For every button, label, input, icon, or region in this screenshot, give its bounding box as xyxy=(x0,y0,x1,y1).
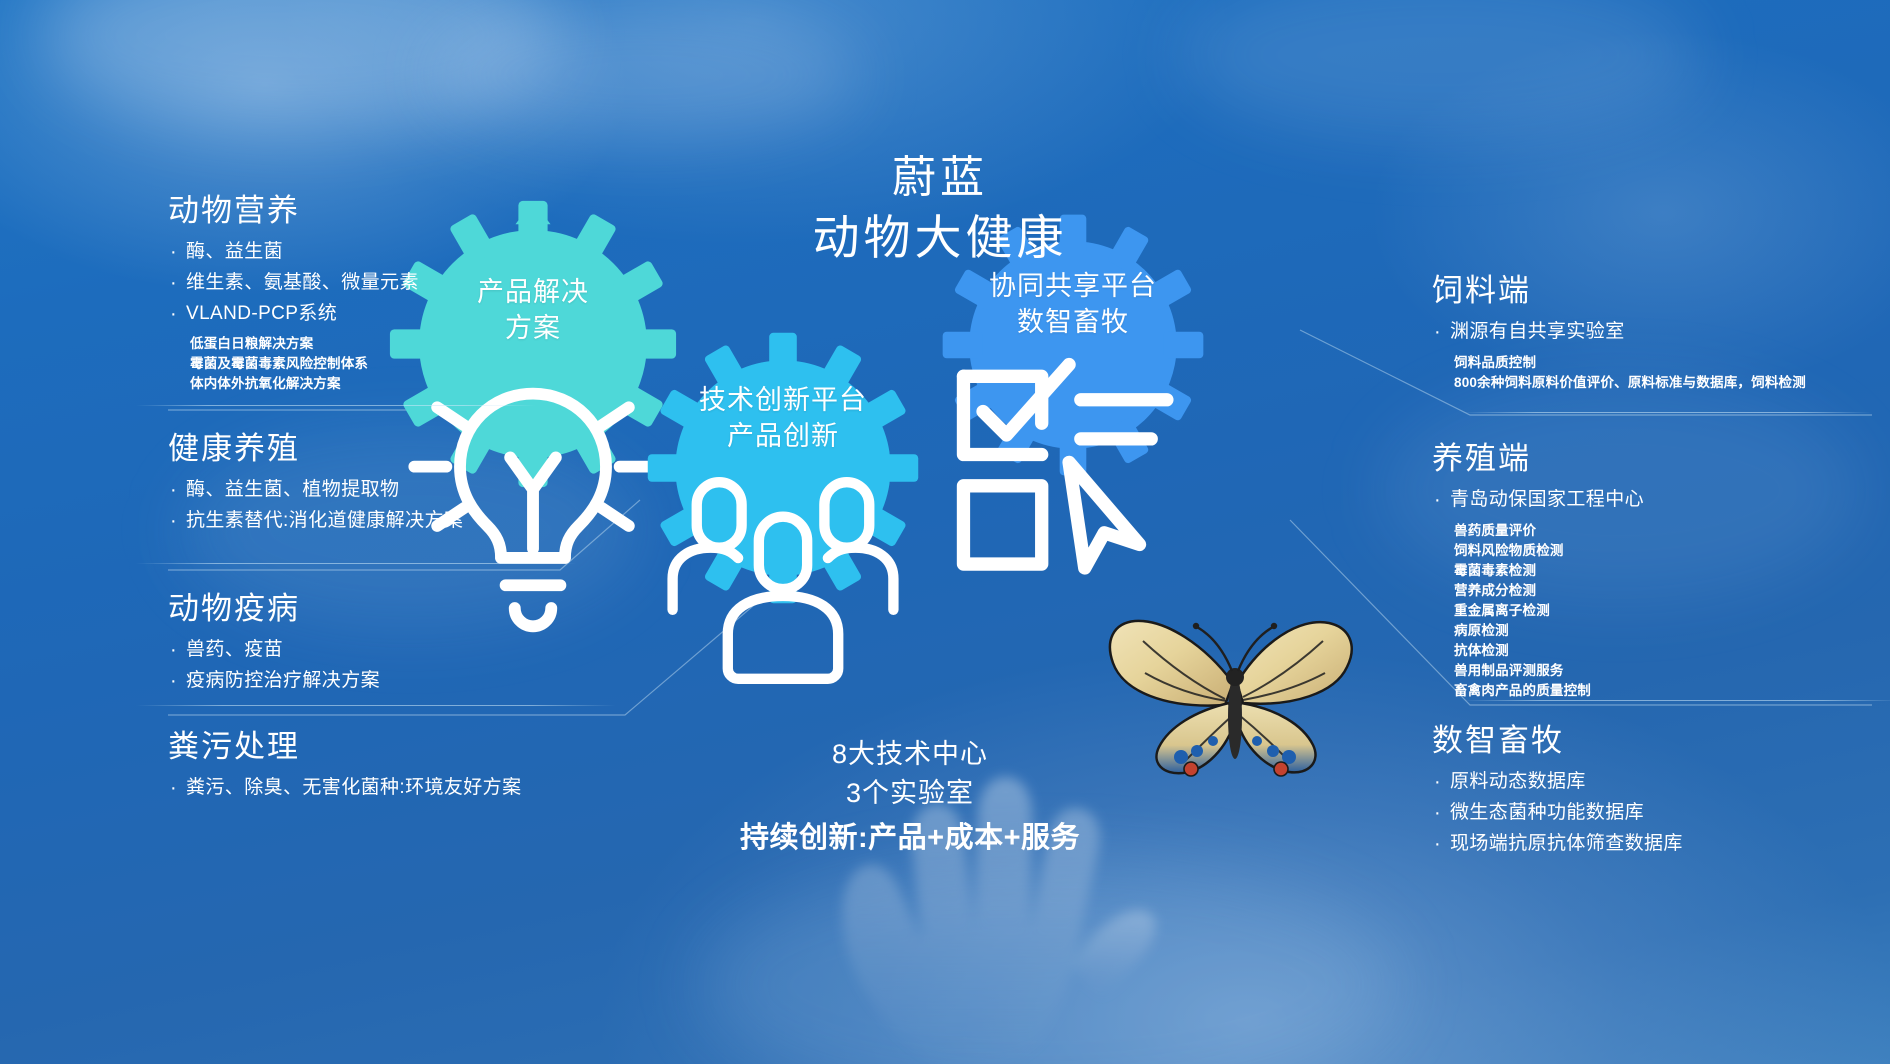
subnote-item: 兽用制品评测服务 xyxy=(1454,661,1644,681)
section-healthy-farming: 健康养殖 酶、益生菌、植物提取物 抗生素替代:消化道健康解决方案 xyxy=(168,430,463,537)
section-animal-disease: 动物疫病 兽药、疫苗 疫病防控治疗解决方案 xyxy=(168,590,380,697)
cloud-blob xyxy=(40,0,560,130)
gear-platform-label: 协同共享平台 数智畜牧 xyxy=(940,268,1206,341)
subnote-item: 800余种饲料原料价值评价、原料标准与数据库，饲料检测 xyxy=(1454,373,1806,393)
list-item: 粪污、除臭、无害化菌种:环境友好方案 xyxy=(168,773,521,804)
list-item: 抗生素替代:消化道健康解决方案 xyxy=(168,506,463,537)
list-item: 微生态菌种功能数据库 xyxy=(1432,798,1683,829)
section-farming-end: 养殖端 青岛动保国家工程中心 兽药质量评价 饲料风险物质检测 霉菌毒素检测 营养… xyxy=(1432,440,1644,701)
section-title: 动物营养 xyxy=(168,192,419,229)
subnote-item: 兽药质量评价 xyxy=(1454,521,1644,541)
bullet-list: 青岛动保国家工程中心 xyxy=(1432,485,1644,516)
bottom-line-2: 3个实验室 xyxy=(630,774,1190,813)
bottom-highlight: 持续创新:产品+成本+服务 xyxy=(630,817,1190,861)
checklist-cursor-icon xyxy=(940,344,1206,596)
section-divider xyxy=(1462,412,1872,413)
subnote-item: 抗体检测 xyxy=(1454,641,1644,661)
cloud-blob xyxy=(700,860,1400,1064)
list-item: 青岛动保国家工程中心 xyxy=(1432,485,1644,516)
gear-tech-label: 技术创新平台 产品创新 xyxy=(645,382,921,455)
cloud-blob xyxy=(430,10,860,140)
bullet-list: 兽药、疫苗 疫病防控治疗解决方案 xyxy=(168,635,380,697)
subnote-item: 重金属离子检测 xyxy=(1454,601,1644,621)
section-title: 动物疫病 xyxy=(168,590,380,627)
section-smart-livestock: 数智畜牧 原料动态数据库 微生态菌种功能数据库 现场端抗原抗体筛查数据库 xyxy=(1432,722,1683,859)
bottom-line-1: 8大技术中心 xyxy=(630,735,1190,774)
list-item: 兽药、疫苗 xyxy=(168,635,380,666)
subnote-list: 低蛋白日粮解决方案 霉菌及霉菌毒素风险控制体系 体内体外抗氧化解决方案 xyxy=(168,334,419,394)
people-group-icon xyxy=(645,458,921,700)
bullet-list: 原料动态数据库 微生态菌种功能数据库 现场端抗原抗体筛查数据库 xyxy=(1432,767,1683,859)
gear-product-label-line1: 产品解决 xyxy=(387,274,679,310)
bullet-list: 粪污、除臭、无害化菌种:环境友好方案 xyxy=(168,773,521,804)
section-title: 养殖端 xyxy=(1432,440,1644,477)
section-title: 数智畜牧 xyxy=(1432,722,1683,759)
gear-platform-label-line2: 数智畜牧 xyxy=(940,304,1206,340)
gear-tech-label-line1: 技术创新平台 xyxy=(645,382,921,418)
gear-product-label-line2: 方案 xyxy=(387,310,679,346)
section-feed-end: 饲料端 渊源有自共享实验室 饲料品质控制 800余种饲料原料价值评价、原料标准与… xyxy=(1432,272,1806,393)
gear-tech-innovation[interactable]: 技术创新平台 产品创新 xyxy=(645,330,921,606)
section-animal-nutrition: 动物营养 酶、益生菌 维生素、氨基酸、微量元素 VLAND-PCP系统 低蛋白日… xyxy=(168,192,419,394)
subnote-item: 低蛋白日粮解决方案 xyxy=(190,334,419,354)
bullet-list: 酶、益生菌 维生素、氨基酸、微量元素 VLAND-PCP系统 xyxy=(168,237,419,329)
gear-tech-label-line2: 产品创新 xyxy=(645,418,921,454)
list-item: 渊源有自共享实验室 xyxy=(1432,317,1806,348)
subnote-list: 兽药质量评价 饲料风险物质检测 霉菌毒素检测 营养成分检测 重金属离子检测 病原… xyxy=(1432,521,1644,701)
list-item: VLAND-PCP系统 xyxy=(168,299,419,330)
bullet-list: 酶、益生菌、植物提取物 抗生素替代:消化道健康解决方案 xyxy=(168,475,463,537)
bullet-list: 渊源有自共享实验室 xyxy=(1432,317,1806,348)
section-divider xyxy=(136,705,616,706)
infographic-canvas: 产品解决 方案 xyxy=(0,0,1890,1064)
subnote-item: 饲料风险物质检测 xyxy=(1454,541,1644,561)
subnote-item: 霉菌及霉菌毒素风险控制体系 xyxy=(190,354,419,374)
section-divider xyxy=(136,563,576,564)
gear-platform-label-line1: 协同共享平台 xyxy=(940,268,1206,304)
cloud-blob xyxy=(1180,0,1700,140)
section-title: 粪污处理 xyxy=(168,728,521,765)
section-divider xyxy=(136,405,536,406)
gear-collaborative-platform[interactable]: 协同共享平台 数智畜牧 xyxy=(940,212,1206,478)
bottom-summary: 8大技术中心 3个实验室 持续创新:产品+成本+服务 xyxy=(630,735,1190,861)
subnote-item: 畜禽肉产品的质量控制 xyxy=(1454,681,1644,701)
section-manure-treatment: 粪污处理 粪污、除臭、无害化菌种:环境友好方案 xyxy=(168,728,521,804)
section-title: 健康养殖 xyxy=(168,430,463,467)
subnote-item: 饲料品质控制 xyxy=(1454,353,1806,373)
subnote-list: 饲料品质控制 800余种饲料原料价值评价、原料标准与数据库，饲料检测 xyxy=(1432,353,1806,393)
subnote-item: 病原检测 xyxy=(1454,621,1644,641)
list-item: 酶、益生菌、植物提取物 xyxy=(168,475,463,506)
list-item: 疫病防控治疗解决方案 xyxy=(168,666,380,697)
gear-product-label: 产品解决 方案 xyxy=(387,274,679,347)
subnote-item: 营养成分检测 xyxy=(1454,581,1644,601)
list-item: 现场端抗原抗体筛查数据库 xyxy=(1432,829,1683,860)
list-item: 酶、益生菌 xyxy=(168,237,419,268)
section-title: 饲料端 xyxy=(1432,272,1806,309)
list-item: 原料动态数据库 xyxy=(1432,767,1683,798)
subnote-item: 体内体外抗氧化解决方案 xyxy=(190,374,419,394)
section-divider xyxy=(1462,700,1890,701)
subnote-item: 霉菌毒素检测 xyxy=(1454,561,1644,581)
list-item: 维生素、氨基酸、微量元素 xyxy=(168,268,419,299)
title-line-1: 蔚蓝 xyxy=(660,150,1220,205)
